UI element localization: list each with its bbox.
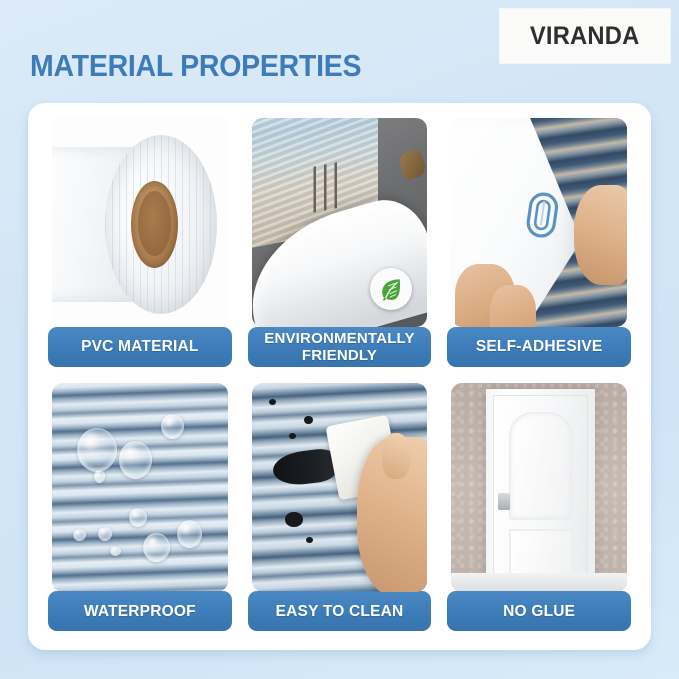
feature-label-line1: ENVIRONMENTALLY xyxy=(264,330,415,347)
feature-tile-self-adhesive[interactable]: SELF-ADHESIVE xyxy=(445,116,633,373)
feature-tile-environmentally-friendly[interactable]: ENVIRONMENTALLY FRIENDLY xyxy=(246,116,434,373)
feature-label-self-adhesive: SELF-ADHESIVE xyxy=(447,327,631,367)
features-card: PVC MATERIAL xyxy=(28,103,651,650)
feature-tile-easy-to-clean[interactable]: EASY TO CLEAN xyxy=(246,381,434,638)
feature-tile-pvc-material[interactable]: PVC MATERIAL xyxy=(46,116,234,373)
feature-label-pvc-material: PVC MATERIAL xyxy=(48,327,232,367)
no-glue-door-image xyxy=(451,383,627,592)
feature-label-environmentally-friendly: ENVIRONMENTALLY FRIENDLY xyxy=(248,327,432,367)
feature-label-line2: FRIENDLY xyxy=(302,347,377,364)
feature-label-waterproof: WATERPROOF xyxy=(48,591,232,631)
waterproof-image xyxy=(52,383,228,592)
brand-logo: VIRANDA xyxy=(500,9,670,63)
features-grid: PVC MATERIAL xyxy=(46,116,633,637)
feature-tile-waterproof[interactable]: WATERPROOF xyxy=(46,381,234,638)
feature-tile-no-glue[interactable]: NO GLUE xyxy=(445,381,633,638)
feature-label-easy-to-clean: EASY TO CLEAN xyxy=(248,591,432,631)
eco-roll-image xyxy=(252,118,428,327)
brand-logo-text: VIRANDA xyxy=(530,22,640,51)
paperclip-icon xyxy=(518,187,566,249)
pvc-roll-image xyxy=(52,118,228,327)
easy-to-clean-image xyxy=(252,383,428,592)
page-title: MATERIAL PROPERTIES xyxy=(30,48,361,84)
feature-label-no-glue: NO GLUE xyxy=(447,591,631,631)
self-adhesive-image xyxy=(451,118,627,327)
leaf-icon xyxy=(370,268,412,310)
